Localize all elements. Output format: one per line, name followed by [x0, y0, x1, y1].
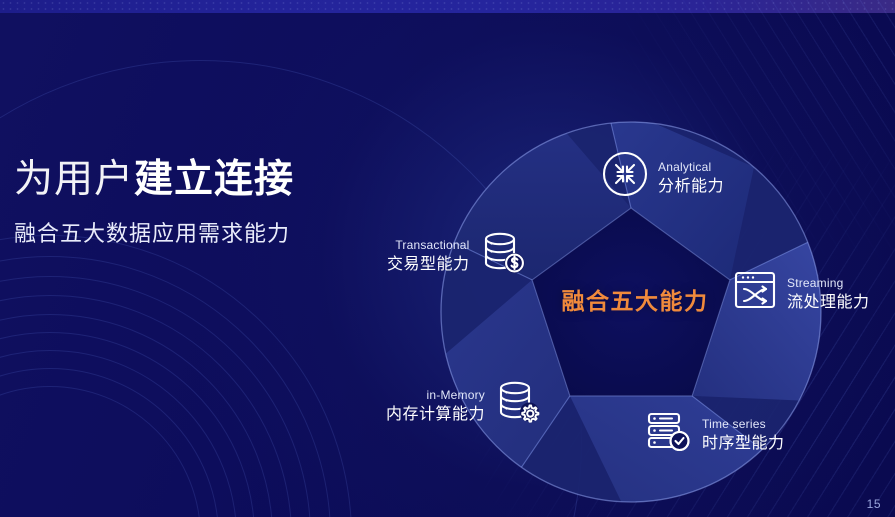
node-analytical[interactable]: Analytical 分析能力	[601, 150, 724, 203]
decorative-arcs-bottom-left	[0, 227, 360, 517]
node-transactional-text: Transactional 交易型能力	[387, 235, 470, 275]
page-number: 15	[867, 497, 881, 511]
node-timeseries-text: Time series 时序型能力	[702, 414, 785, 454]
node-inmemory[interactable]: in-Memory 内存计算能力	[386, 378, 542, 431]
node-streaming-en: Streaming	[787, 276, 844, 290]
page-subtitle: 融合五大数据应用需求能力	[14, 216, 394, 248]
page-title: 为用户建立连接	[14, 158, 394, 202]
converging-arrows-circle-icon	[601, 150, 649, 203]
node-timeseries-cn: 时序型能力	[702, 435, 785, 452]
slide-canvas: 为用户建立连接 融合五大数据应用需求能力	[0, 0, 895, 517]
node-transactional-en: Transactional	[395, 238, 469, 252]
node-inmemory-text: in-Memory 内存计算能力	[386, 385, 485, 425]
node-streaming-text: Streaming 流处理能力	[787, 273, 870, 313]
node-transactional[interactable]: Transactional 交易型能力	[387, 228, 527, 281]
node-streaming-cn: 流处理能力	[787, 294, 870, 311]
node-timeseries[interactable]: Time series 时序型能力	[645, 409, 785, 458]
node-inmemory-en: in-Memory	[427, 388, 485, 402]
browser-shuffle-icon	[732, 268, 778, 317]
headline-block: 为用户建立连接 融合五大数据应用需求能力	[14, 158, 394, 248]
node-streaming[interactable]: Streaming 流处理能力	[732, 268, 870, 317]
node-timeseries-en: Time series	[702, 417, 766, 431]
node-analytical-text: Analytical 分析能力	[658, 157, 724, 197]
node-analytical-cn: 分析能力	[658, 178, 724, 195]
database-dollar-icon	[479, 228, 527, 281]
server-check-icon	[645, 409, 693, 458]
page-title-bold: 建立连接	[134, 158, 294, 201]
node-inmemory-cn: 内存计算能力	[386, 406, 485, 423]
diagram-center-label: 融合五大能力	[555, 282, 715, 316]
page-title-light: 为用户	[14, 158, 134, 201]
database-gear-icon	[494, 378, 542, 431]
node-transactional-cn: 交易型能力	[387, 256, 470, 273]
node-analytical-en: Analytical	[658, 160, 711, 174]
